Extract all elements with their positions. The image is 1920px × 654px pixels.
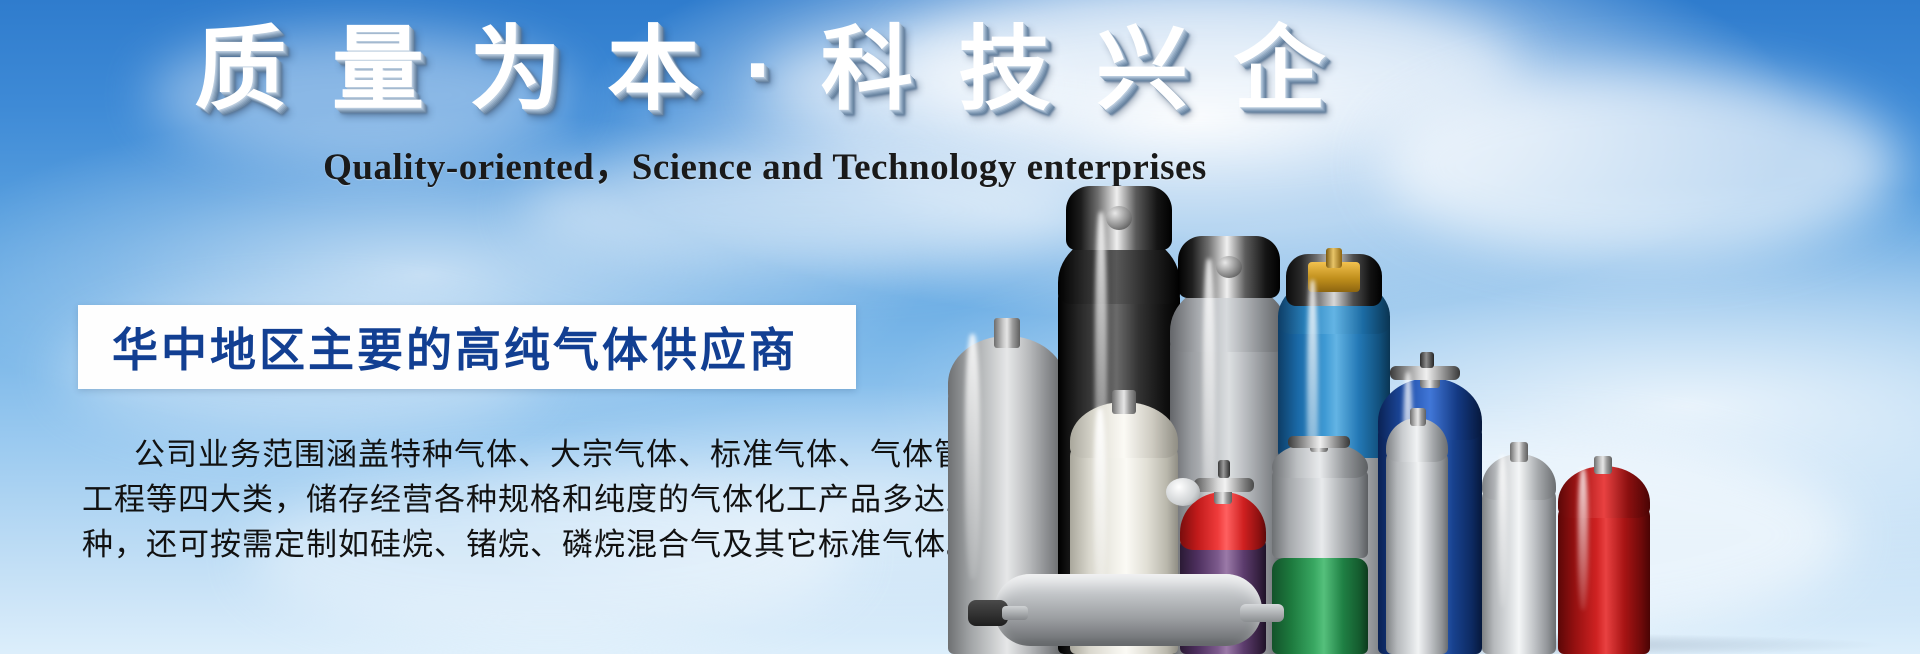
aluminium-cylinder bbox=[1386, 404, 1448, 654]
dark-red-cylinder bbox=[1558, 456, 1650, 654]
green-top-cylinder bbox=[1272, 436, 1368, 654]
description-line-3: 种，还可按需定制如硅烷、锗烷、磷烷混合气及其它标准气体。 bbox=[82, 522, 872, 567]
gas-cylinder-lineup bbox=[930, 0, 1920, 654]
slogan-highlight-box: 华中地区主要的高纯气体供应商 bbox=[78, 305, 856, 389]
promo-banner: 质 量 为 本 · 科 技 兴 企 Quality-oriented，Scien… bbox=[0, 0, 1920, 654]
slogan-text: 华中地区主要的高纯气体供应商 bbox=[78, 314, 798, 380]
banner-description: 公司业务范围涵盖特种气体、大宗气体、标准气体、气体管道 工程等四大类，储存经营各… bbox=[82, 432, 872, 567]
aluminium-cylinder bbox=[1482, 442, 1556, 654]
description-line-2: 工程等四大类，储存经营各种规格和纯度的气体化工产品多达上百 bbox=[82, 477, 872, 522]
pressure-gauge-icon bbox=[1166, 478, 1200, 506]
horizontal-grey-tank bbox=[968, 566, 1278, 652]
description-line-1: 公司业务范围涵盖特种气体、大宗气体、标准气体、气体管道 bbox=[82, 432, 872, 477]
